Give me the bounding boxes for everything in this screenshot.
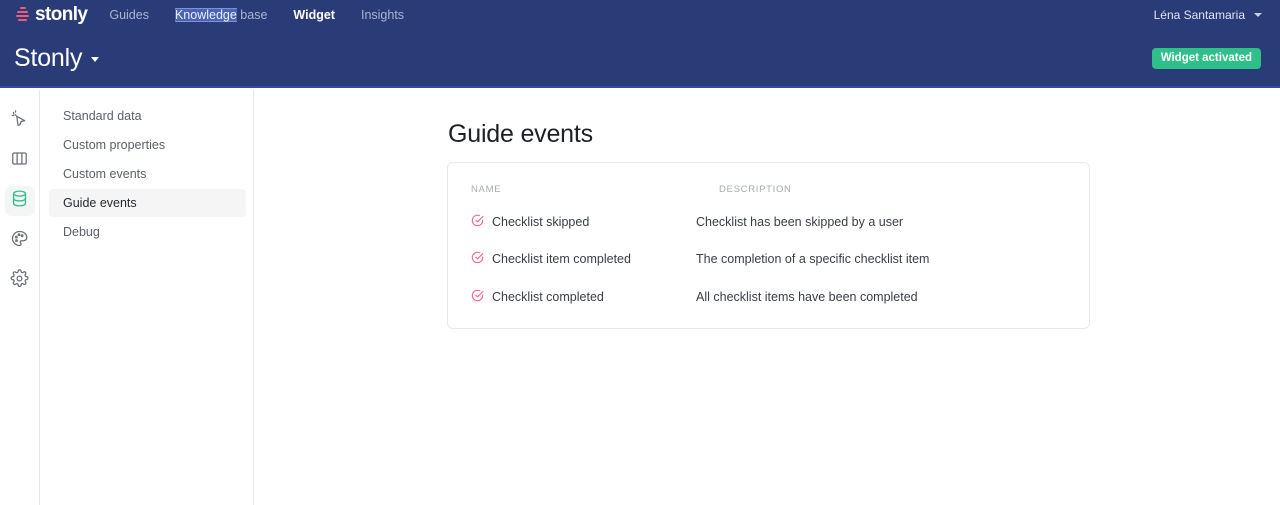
status-badge: Widget activated — [1152, 48, 1261, 69]
sidebar-item-debug[interactable]: Debug — [49, 218, 246, 246]
guide-events-table: NAME DESCRIPTION Checklist skipped Chec — [448, 163, 1089, 316]
brand-logo[interactable]: stonly — [16, 4, 87, 26]
sidebar-item-custom-properties[interactable]: Custom properties — [49, 131, 246, 159]
guide-events-card: NAME DESCRIPTION Checklist skipped Chec — [447, 162, 1090, 329]
stonly-logo-icon — [16, 7, 30, 23]
main-content: Guide events NAME DESCRIPTION Checklis — [255, 90, 1280, 505]
workspace-header: Stonly Widget activated — [0, 30, 1280, 88]
nav-item-insights[interactable]: Insights — [361, 8, 404, 22]
workspace-selector[interactable]: Stonly — [14, 44, 99, 73]
nav-item-knowledge-base[interactable]: Knowledge base — [175, 8, 267, 22]
rail-item-palette[interactable] — [5, 226, 35, 256]
event-description: The completion of a specific checklist i… — [696, 241, 1089, 279]
check-circle-icon — [471, 251, 484, 267]
user-menu[interactable]: Léna Santamaria — [1154, 8, 1262, 22]
page-title: Guide events — [448, 120, 593, 149]
event-name: Checklist skipped — [492, 215, 589, 229]
check-circle-icon — [471, 214, 484, 230]
cursor-click-icon — [10, 109, 29, 133]
sidebar-item-standard-data[interactable]: Standard data — [49, 102, 246, 130]
event-description: Checklist has been skipped by a user — [696, 203, 1089, 241]
user-name-label: Léna Santamaria — [1154, 8, 1245, 22]
rail-item-database[interactable] — [5, 186, 35, 216]
event-name: Checklist completed — [492, 290, 604, 304]
palette-icon — [10, 229, 29, 253]
table-header-row: NAME DESCRIPTION — [448, 163, 1089, 203]
nav-item-knowledge-base-rest: base — [237, 8, 268, 22]
event-name: Checklist item completed — [492, 252, 631, 266]
table-row[interactable]: Checklist completed All checklist items … — [448, 278, 1089, 316]
nav-item-guides[interactable]: Guides — [109, 8, 149, 22]
rail-item-settings[interactable] — [5, 266, 35, 296]
table-row[interactable]: Checklist item completed The completion … — [448, 241, 1089, 279]
check-circle-icon — [471, 289, 484, 305]
database-icon — [10, 189, 29, 213]
icon-rail — [0, 90, 40, 505]
primary-nav: Guides Knowledge base Widget Insights — [109, 8, 404, 22]
table-row[interactable]: Checklist skipped Checklist has been ski… — [448, 203, 1089, 241]
event-description: All checklist items have been completed — [696, 278, 1089, 316]
secondary-sidebar: Standard data Custom properties Custom e… — [41, 90, 254, 505]
layout-columns-icon — [10, 149, 29, 173]
top-navigation-bar: stonly Guides Knowledge base Widget Insi… — [0, 0, 1280, 30]
column-header-description: DESCRIPTION — [696, 163, 1089, 203]
nav-item-knowledge-base-selected-text: Knowledge — [175, 8, 237, 22]
rail-item-layout[interactable] — [5, 146, 35, 176]
sidebar-item-guide-events[interactable]: Guide events — [49, 189, 246, 217]
sidebar-item-custom-events[interactable]: Custom events — [49, 160, 246, 188]
chevron-down-icon — [1254, 13, 1262, 17]
rail-item-cursor[interactable] — [5, 106, 35, 136]
gear-icon — [10, 269, 29, 293]
workspace-name: Stonly — [14, 44, 82, 73]
logo-text: stonly — [35, 4, 87, 26]
caret-down-icon — [91, 57, 99, 62]
column-header-name: NAME — [448, 163, 696, 203]
nav-item-widget[interactable]: Widget — [293, 8, 335, 22]
